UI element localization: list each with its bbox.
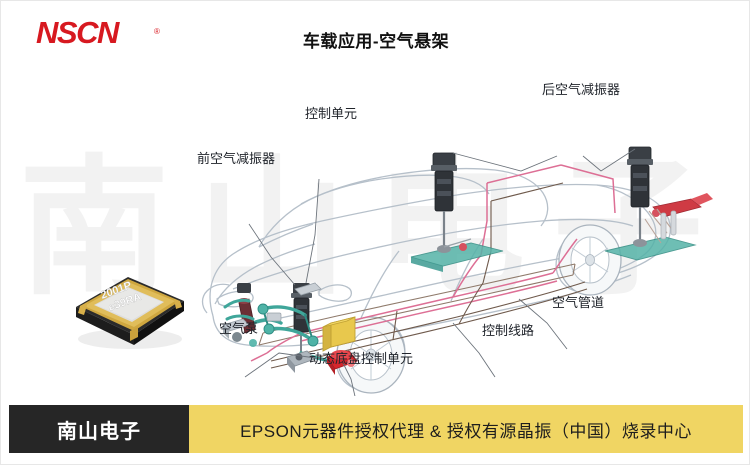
callout-rear-air-shock-absorber: 后空气减振器 bbox=[542, 82, 620, 98]
control-circuit-network bbox=[271, 183, 587, 368]
rear-wheel bbox=[559, 225, 621, 295]
illustration-stage: 2001P e39RA 控制单元 后空气减振器 前空气减振器 空气泵 动态底盘控… bbox=[1, 61, 750, 396]
footer-slogan-text: EPSON元器件授权代理 & 授权有源晶振（中国）烧录中心 bbox=[240, 417, 692, 442]
header: NSCN ® 车载应用-空气悬架 bbox=[1, 1, 750, 69]
callout-dynamic-chassis-control-unit: 动态底盘控制单元 bbox=[309, 351, 413, 367]
callout-control-circuit: 控制线路 bbox=[482, 323, 534, 339]
footer-brand-text: 南山电子 bbox=[57, 415, 141, 444]
callout-air-pump: 空气泵 bbox=[219, 321, 258, 337]
page-title: 车载应用-空气悬架 bbox=[1, 27, 750, 52]
callout-control-unit: 控制单元 bbox=[305, 106, 357, 122]
footer-brand-block: 南山电子 bbox=[9, 405, 189, 453]
rear-right-air-shock-absorber bbox=[605, 147, 713, 260]
crystal-oscillator-component: 2001P e39RA bbox=[64, 257, 192, 357]
poster-root: NSCN ® 车载应用-空气悬架 南山电子 bbox=[0, 0, 750, 465]
callout-front-air-shock-absorber: 前空气减振器 bbox=[197, 151, 275, 167]
footer: 南山电子 EPSON元器件授权代理 & 授权有源晶振（中国）烧录中心 bbox=[9, 405, 743, 453]
callout-air-pipeline: 空气管道 bbox=[552, 295, 604, 311]
footer-slogan-block: EPSON元器件授权代理 & 授权有源晶振（中国）烧录中心 bbox=[189, 405, 743, 453]
